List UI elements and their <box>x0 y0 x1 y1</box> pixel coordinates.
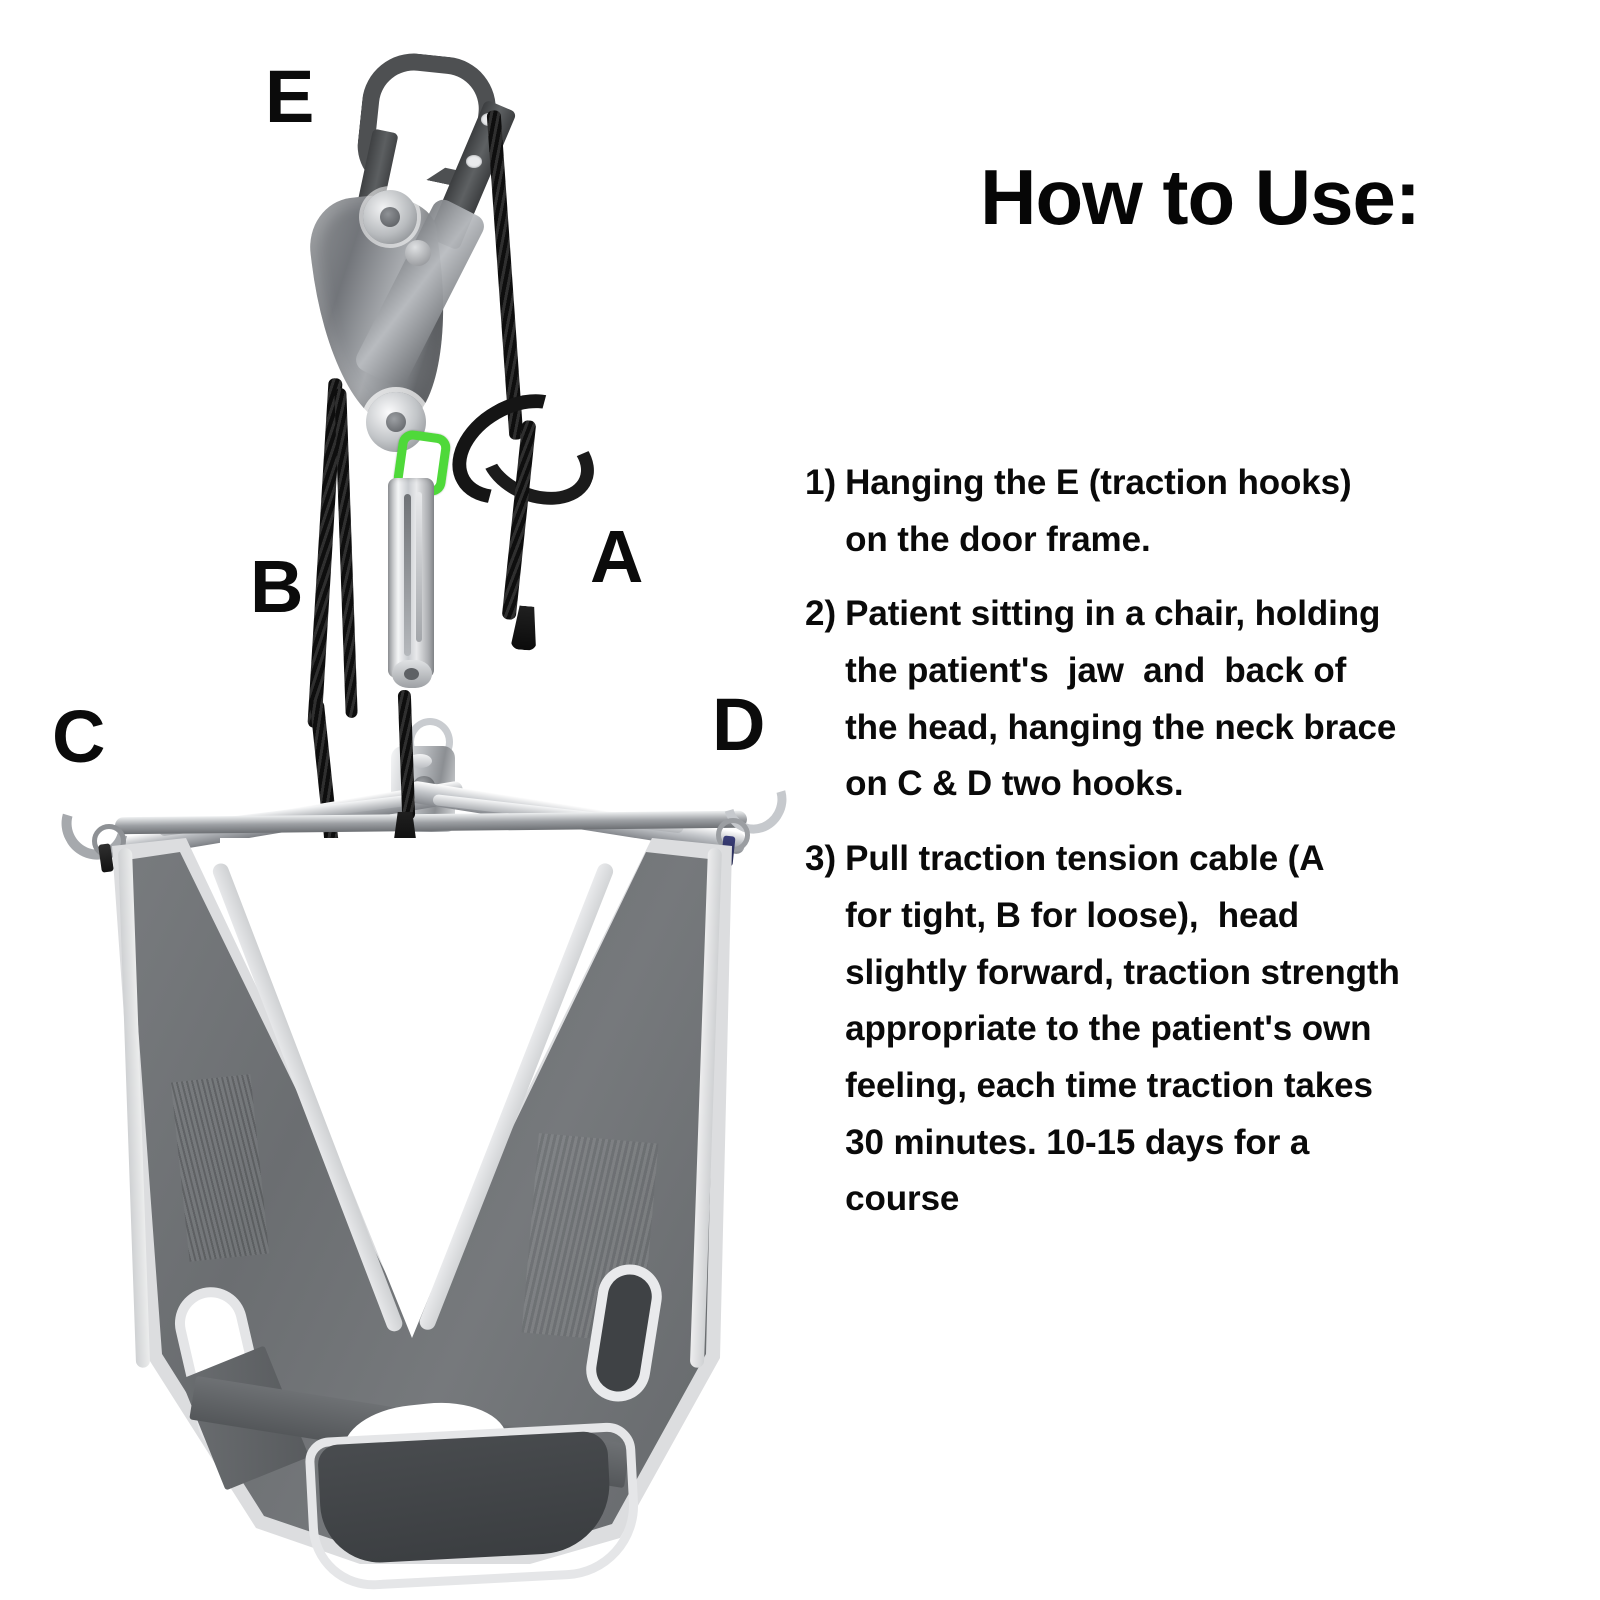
callout-label-c: C <box>52 700 105 774</box>
step-item: 1) Hanging the E (traction hooks) on the… <box>805 455 1595 568</box>
turnbuckle-eyelet <box>392 660 432 688</box>
spreader-bar <box>95 718 755 838</box>
callout-label-b: B <box>250 550 303 624</box>
page-root: E B A C D How to Use: 1) Hanging the E (… <box>0 0 1600 1600</box>
step-number: 2) <box>805 586 845 643</box>
tension-cable-a <box>487 110 524 440</box>
sling-chin-pad <box>317 1430 613 1565</box>
step-text: Pull traction tension cable (A for tight… <box>845 831 1595 1228</box>
step-item: 2) Patient sitting in a chair, holding t… <box>805 586 1595 813</box>
turnbuckle-slot <box>404 494 411 656</box>
step-item: 3) Pull traction tension cable (A for ti… <box>805 831 1595 1228</box>
strap-hole-icon <box>466 155 482 168</box>
neck-sling <box>60 838 780 1568</box>
step-number: 3) <box>805 831 845 888</box>
loose-cord-b <box>334 388 358 718</box>
page-title: How to Use: <box>800 152 1600 243</box>
tensioner-turnbuckle <box>388 478 434 678</box>
callout-label-e: E <box>265 60 314 134</box>
step-text: Hanging the E (traction hooks) on the do… <box>845 455 1595 568</box>
pulley-sheave-upper <box>363 190 417 244</box>
callout-label-a: A <box>590 520 643 594</box>
step-number: 1) <box>805 455 845 512</box>
callout-label-d: D <box>712 688 765 762</box>
steps-list: 1) Hanging the E (traction hooks) on the… <box>805 455 1595 1246</box>
instructions-panel: How to Use: 1) Hanging the E (traction h… <box>800 0 1600 1600</box>
turnbuckle-rod <box>416 492 422 642</box>
product-photo: E B A C D <box>0 0 800 1600</box>
step-text: Patient sitting in a chair, holding the … <box>845 586 1595 813</box>
